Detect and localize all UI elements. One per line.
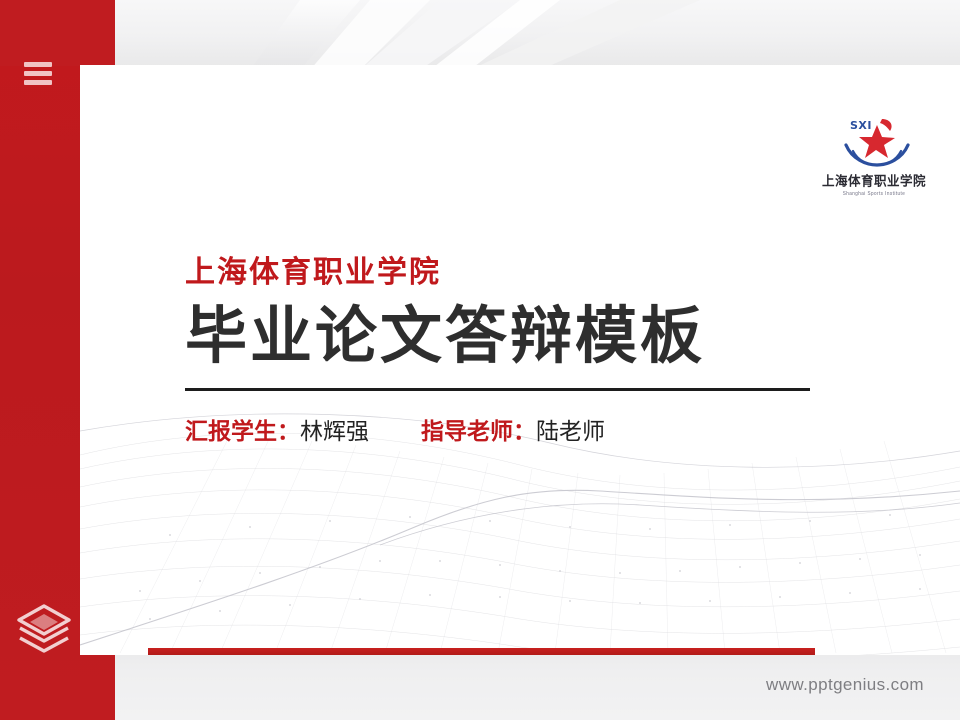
background-swoosh-decoration [0, 0, 960, 70]
university-emblem-icon: SXI [820, 111, 928, 169]
advisor-label: 指导老师： [421, 412, 536, 446]
university-logo: SXI 上海体育职业学院 Shanghai Sports Institute [820, 111, 928, 201]
title-block: 上海体育职业学院 毕业论文答辩模板 汇报学生： 林辉强 指导老师： 陆老师 [185, 255, 845, 446]
hamburger-bar [24, 71, 52, 76]
university-name-cn: 上海体育职业学院 [820, 169, 928, 189]
hamburger-bar [24, 80, 52, 85]
student-label: 汇报学生： [185, 412, 300, 446]
stacked-layers-icon[interactable] [14, 600, 74, 658]
footer-watermark: www.pptgenius.com [766, 675, 924, 695]
institution-title: 上海体育职业学院 [185, 255, 845, 291]
presentation-slide: SXI 上海体育职业学院 Shanghai Sports Institute 上… [0, 0, 960, 720]
hamburger-menu-icon[interactable] [24, 58, 58, 88]
slide-content-card: SXI 上海体育职业学院 Shanghai Sports Institute 上… [80, 65, 960, 655]
card-bottom-red-bar [148, 648, 815, 655]
presenter-meta-row: 汇报学生： 林辉强 指导老师： 陆老师 [185, 412, 845, 446]
title-divider [185, 388, 810, 391]
university-name-en: Shanghai Sports Institute [820, 191, 928, 197]
advisor-name: 陆老师 [536, 412, 605, 446]
svg-text:SXI: SXI [850, 119, 872, 132]
student-name: 林辉强 [300, 412, 369, 446]
sidebar-top-notch [0, 0, 115, 66]
hamburger-bar [24, 62, 52, 67]
page-title: 毕业论文答辩模板 [185, 301, 845, 370]
